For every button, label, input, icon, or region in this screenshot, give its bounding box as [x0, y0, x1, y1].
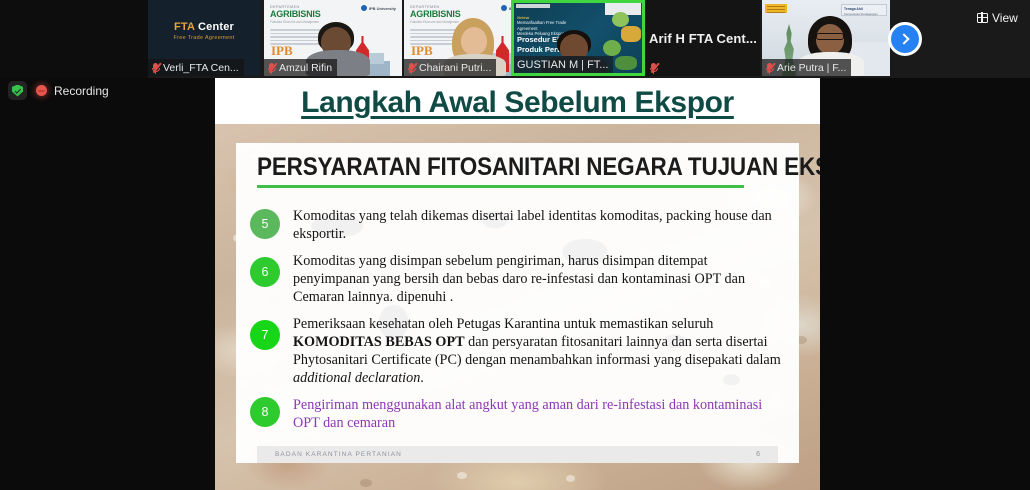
bullet-text-6: Komoditas yang disimpan sebelum pengirim…	[293, 252, 785, 306]
slide-footer-organization: BADAN KARANTINA PERTANIAN	[275, 451, 402, 458]
next-page-button[interactable]	[888, 22, 922, 56]
mic-muted-icon	[765, 62, 774, 74]
encryption-status-button[interactable]	[8, 81, 27, 100]
participant-tile-5[interactable]: Arif H FTA Cent...	[646, 0, 760, 76]
participant-namebar-4: GUSTIAN M | FT...	[514, 56, 613, 73]
bg2-mark: IPB	[271, 43, 293, 59]
participant-namebar-3: Chairani Putri...	[404, 59, 496, 76]
bullet-number-badge: 8	[250, 397, 280, 427]
participant-namebar-1: Verli_FTA Cen...	[148, 59, 244, 76]
slide-heading: PERSYARATAN FITOSANITARI NEGARA TUJUAN E…	[257, 153, 736, 182]
participant-tile-6[interactable]: Tenaga Ahli Kementerian Perdagangan Arie…	[762, 0, 890, 76]
meeting-status-row: Recording	[8, 81, 109, 100]
participant-name-4: GUSTIAN M | FT...	[517, 59, 608, 71]
list-item: 6 Komoditas yang disimpan sebelum pengir…	[250, 252, 785, 306]
mic-muted-icon	[267, 62, 276, 74]
bg3-mark: IPB	[411, 43, 433, 59]
filmstrip-left-filler	[0, 0, 148, 78]
participant-name-3: Chairani Putri...	[419, 62, 491, 74]
list-item: 7 Pemeriksaan kesehatan oleh Petugas Kar…	[250, 315, 785, 387]
participant-video-5: Arif H FTA Cent...	[646, 0, 760, 76]
participant-tile-1[interactable]: FTA Center Free Trade Agreement Verli_FT…	[148, 0, 260, 76]
ipb-logo-icon	[501, 5, 507, 11]
veg-icon	[615, 56, 637, 70]
fta-logo-center: Center	[198, 21, 234, 33]
participant-tile-2[interactable]: DEPARTEMEN AGRIBISNIS Fakultas Ekonomi d…	[264, 0, 402, 76]
slide-title: Langkah Awal Sebelum Ekspor	[301, 86, 734, 120]
participant-filmstrip: FTA Center Free Trade Agreement Verli_FT…	[0, 0, 1030, 78]
participant-namebar-5	[646, 59, 663, 76]
fta-logo-fta: FTA	[174, 21, 195, 33]
veg-icon	[621, 26, 641, 42]
bullet-number-badge: 6	[250, 257, 280, 287]
participant-namebar-2: Amzul Rifin	[264, 59, 337, 76]
banner-left	[765, 4, 787, 13]
record-dot-icon	[36, 85, 47, 96]
mic-muted-icon	[151, 62, 160, 74]
view-button[interactable]: View	[972, 8, 1024, 27]
glasses-icon	[816, 33, 844, 40]
participant-tile-4-active-speaker[interactable]: Webinar Memanfaatkan Free Trade Agreemen…	[511, 0, 645, 76]
bg2-badge: IPB University	[369, 6, 396, 11]
participant-name-5: Arif H FTA Cent...	[649, 31, 757, 46]
heading-underline-rule	[257, 185, 744, 188]
banner-right: Tenaga Ahli Kementerian Perdagangan	[841, 4, 887, 16]
bullet-text-8: Pengiriman menggunakan alat angkut yang …	[293, 396, 785, 432]
shield-check-icon	[12, 85, 23, 97]
shared-screen-slide: Langkah Awal Sebelum Ekspor PERSYARATAN …	[215, 78, 820, 490]
bg2-brand: AGRIBISNIS	[270, 9, 322, 19]
ipb-logo-icon	[361, 5, 367, 11]
view-button-label: View	[992, 11, 1018, 25]
bullet-number-badge: 7	[250, 320, 280, 350]
chevron-right-icon	[898, 33, 909, 44]
list-item: 8 Pengiriman menggunakan alat angkut yan…	[250, 396, 785, 432]
slide-footer-page-number: 6	[756, 451, 760, 458]
fta-logo-subtitle: Free Trade Agreement	[148, 36, 260, 42]
mic-muted-icon	[407, 62, 416, 74]
bullet-number-badge: 5	[250, 209, 280, 239]
slide-bullet-list: 5 Komoditas yang telah dikemas disertai …	[250, 207, 785, 441]
zoom-meeting-window: FTA Center Free Trade Agreement Verli_FT…	[0, 0, 1030, 490]
bg6-banner-1: Tenaga Ahli	[844, 7, 886, 11]
slide-title-band: Langkah Awal Sebelum Ekspor	[215, 78, 820, 128]
grid-view-icon	[977, 13, 988, 23]
list-item: 5 Komoditas yang telah dikemas disertai …	[250, 207, 785, 243]
slide-footer: BADAN KARANTINA PERTANIAN 6	[257, 446, 778, 463]
bullet-text-7: Pemeriksaan kesehatan oleh Petugas Karan…	[293, 315, 785, 387]
recording-label: Recording	[54, 84, 109, 98]
slide-content-panel: PERSYARATAN FITOSANITARI NEGARA TUJUAN E…	[236, 143, 799, 463]
mic-muted-icon	[649, 62, 658, 74]
slide-heading-wrap: PERSYARATAN FITOSANITARI NEGARA TUJUAN E…	[257, 153, 789, 188]
participant-name-2: Amzul Rifin	[279, 62, 332, 74]
veg-icon	[612, 12, 629, 27]
participant-namebar-6: Arie Putra | F...	[762, 59, 851, 76]
recording-indicator[interactable]: Recording	[36, 84, 109, 98]
participant-name-1: Verli_FTA Cen...	[163, 62, 239, 74]
participant-placeholder-5: Arif H FTA Cent...	[646, 0, 760, 76]
bullet-text-5: Komoditas yang telah dikemas disertai la…	[293, 207, 785, 243]
participant-name-6: Arie Putra | F...	[777, 62, 846, 74]
